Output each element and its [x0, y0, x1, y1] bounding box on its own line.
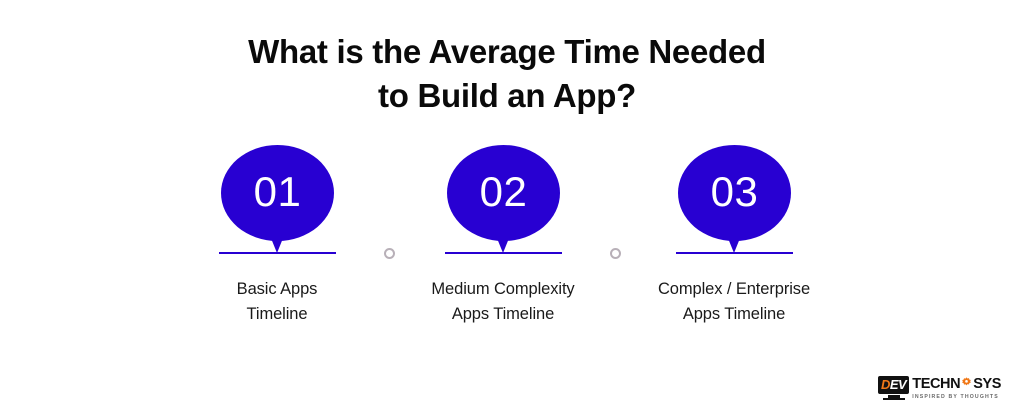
timeline-step-03[interactable]: 03 Complex / Enterprise Apps Timeline [619, 140, 849, 327]
step-label-02: Medium Complexity Apps Timeline [388, 277, 618, 327]
gear-icon [961, 377, 972, 392]
connector-dot-icon-2 [610, 248, 621, 259]
page-title-line-1: What is the Average Time Needed [0, 30, 1014, 74]
step-underline-01 [219, 252, 336, 254]
step-number-02: 02 [480, 171, 528, 213]
step-label-03-line-2: Apps Timeline [619, 302, 849, 327]
step-bubble-tail-02 [492, 226, 514, 253]
step-underline-02 [445, 252, 562, 254]
page-title: What is the Average Time Needed to Build… [0, 30, 1014, 118]
step-number-03: 03 [711, 171, 759, 213]
timeline-step-02[interactable]: 02 Medium Complexity Apps Timeline [388, 140, 618, 327]
connector-dot-icon-1 [384, 248, 395, 259]
brand-logo[interactable]: DEV TECHN SYS INSPIRED BY THOUGHTS [878, 376, 994, 406]
step-label-01-line-1: Basic Apps [162, 277, 392, 302]
step-number-01: 01 [254, 171, 302, 213]
logo-badge-rest: EV [890, 377, 906, 392]
timeline-step-01[interactable]: 01 Basic Apps Timeline [162, 140, 392, 327]
step-bubble-03: 03 [619, 140, 849, 253]
logo-tagline: INSPIRED BY THOUGHTS [912, 394, 1001, 400]
step-bubble-tail-01 [266, 226, 288, 253]
step-label-03: Complex / Enterprise Apps Timeline [619, 277, 849, 327]
step-underline-03 [676, 252, 793, 254]
step-label-01: Basic Apps Timeline [162, 277, 392, 327]
logo-name-part-1: TECHN [912, 377, 960, 392]
step-bubble-02: 02 [388, 140, 618, 253]
step-bubble-01: 01 [162, 140, 392, 253]
logo-badge-first: D [881, 377, 890, 392]
step-label-03-line-1: Complex / Enterprise [619, 277, 849, 302]
step-label-02-line-1: Medium Complexity [388, 277, 618, 302]
logo-name-part-2: SYS [973, 377, 1001, 392]
step-label-01-line-2: Timeline [162, 302, 392, 327]
timeline-steps: 01 Basic Apps Timeline 02 Medium Complex… [0, 140, 1014, 340]
page-title-line-2: to Build an App? [0, 74, 1014, 118]
logo-monitor-icon: DEV [878, 376, 909, 400]
step-label-02-line-2: Apps Timeline [388, 302, 618, 327]
step-bubble-tail-03 [723, 226, 745, 253]
